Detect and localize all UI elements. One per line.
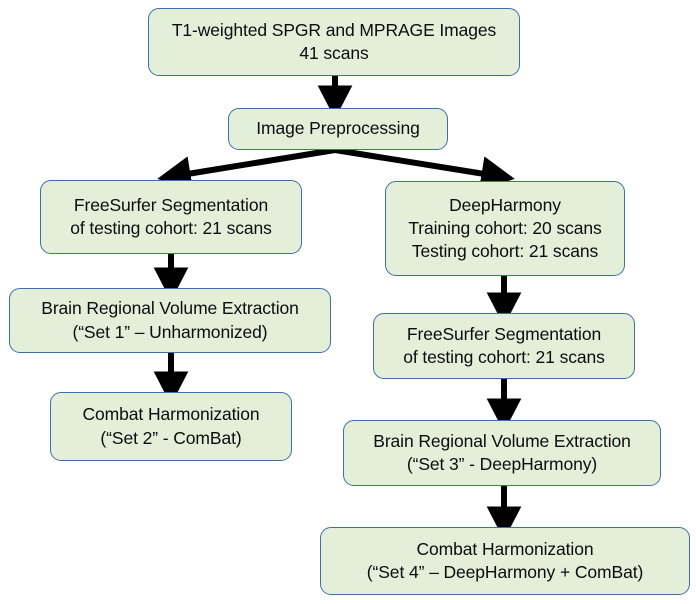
node-combat-set2-line-2: (“Set 2” - ComBat): [100, 427, 241, 450]
node-image-preprocessing[interactable]: Image Preprocessing: [228, 108, 448, 150]
node-deepharmony[interactable]: DeepHarmony Training cohort: 20 scans Te…: [385, 181, 625, 276]
node-volume-extraction-set3[interactable]: Brain Regional Volume Extraction (“Set 3…: [343, 420, 661, 486]
node-freesurfer-left[interactable]: FreeSurfer Segmentation of testing cohor…: [40, 180, 302, 254]
node-input-images-line-2: 41 scans: [299, 42, 368, 65]
node-combat-set2[interactable]: Combat Harmonization (“Set 2” - ComBat): [50, 392, 292, 461]
edge-preprocessing-to-deepharmony: [335, 150, 497, 176]
node-freesurfer-right-line-1: FreeSurfer Segmentation: [407, 323, 601, 346]
node-combat-set4[interactable]: Combat Harmonization (“Set 4” – DeepHarm…: [320, 527, 690, 595]
node-volume-extraction-set3-line-1: Brain Regional Volume Extraction: [373, 430, 631, 453]
node-deepharmony-line-1: DeepHarmony: [449, 194, 561, 217]
node-freesurfer-left-line-2: of testing cohort: 21 scans: [70, 217, 272, 240]
node-combat-set4-line-1: Combat Harmonization: [417, 538, 594, 561]
node-freesurfer-right[interactable]: FreeSurfer Segmentation of testing cohor…: [373, 313, 635, 379]
node-deepharmony-line-2: Training cohort: 20 scans: [408, 217, 601, 240]
node-input-images[interactable]: T1-weighted SPGR and MPRAGE Images 41 sc…: [148, 8, 520, 76]
node-freesurfer-right-line-2: of testing cohort: 21 scans: [403, 346, 605, 369]
node-image-preprocessing-line-1: Image Preprocessing: [256, 117, 419, 140]
node-volume-extraction-set1-line-2: (“Set 1” – Unharmonized): [72, 321, 267, 344]
node-combat-set2-line-1: Combat Harmonization: [83, 403, 260, 426]
node-volume-extraction-set1[interactable]: Brain Regional Volume Extraction (“Set 1…: [9, 288, 331, 353]
flowchart-diagram: T1-weighted SPGR and MPRAGE Images 41 sc…: [0, 0, 696, 604]
node-deepharmony-line-3: Testing cohort: 21 scans: [412, 240, 598, 263]
node-input-images-line-1: T1-weighted SPGR and MPRAGE Images: [172, 19, 496, 42]
node-volume-extraction-set1-line-1: Brain Regional Volume Extraction: [41, 297, 299, 320]
node-combat-set4-line-2: (“Set 4” – DeepHarmony + ComBat): [367, 561, 643, 584]
edge-preprocessing-to-freesurfer-left: [175, 150, 335, 176]
node-freesurfer-left-line-1: FreeSurfer Segmentation: [74, 194, 268, 217]
node-volume-extraction-set3-line-2: (“Set 3” - DeepHarmony): [407, 453, 597, 476]
